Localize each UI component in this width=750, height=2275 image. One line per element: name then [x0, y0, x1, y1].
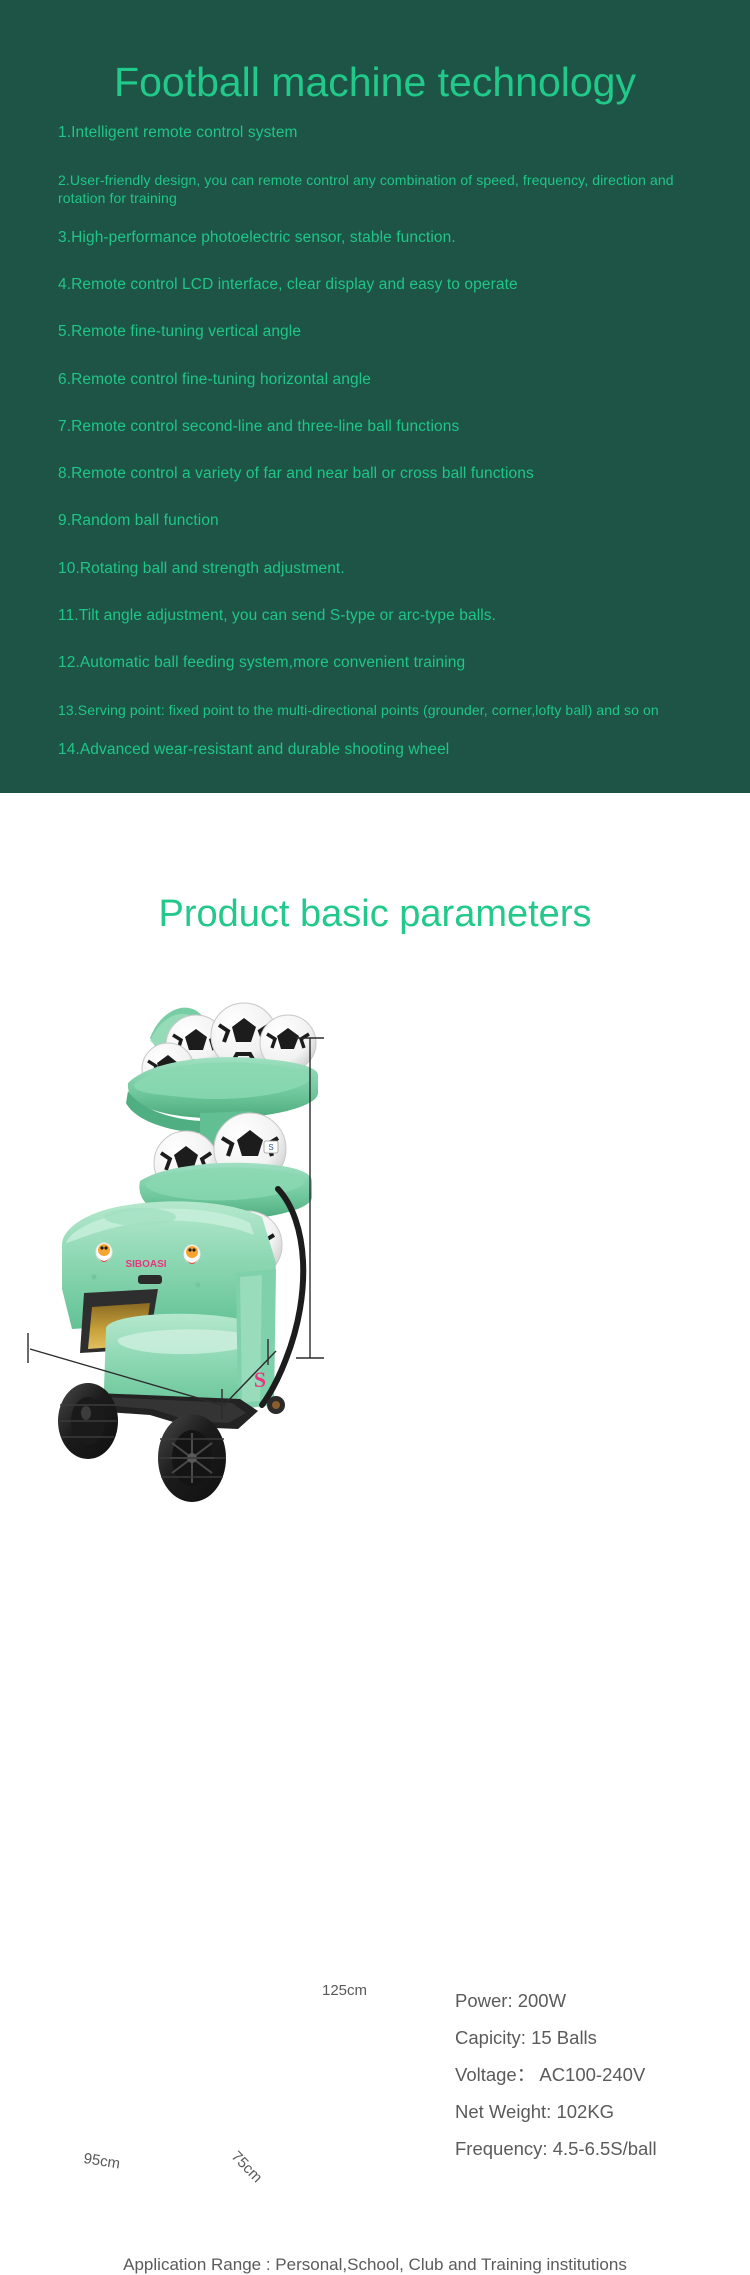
- feature-item-text: Remote control second-line and three-lin…: [71, 418, 459, 435]
- feature-item: 5.Remote fine-tuning vertical angle: [58, 323, 708, 341]
- spec-key: Power:: [455, 1990, 513, 2011]
- technology-section: Football machine technology 1.Intelligen…: [0, 0, 750, 793]
- feature-item-text: Remote control LCD interface, clear disp…: [71, 276, 518, 293]
- svg-text:S: S: [268, 1143, 273, 1152]
- feature-item-number: 7.: [58, 418, 71, 435]
- spec-key: Frequency:: [455, 2138, 548, 2159]
- feature-item-number: 11.: [58, 607, 79, 624]
- page-title: Football machine technology: [0, 59, 750, 106]
- dimension-depth-label: 75cm: [228, 2148, 266, 2186]
- flame-sticker-right: [184, 1245, 200, 1264]
- feature-item-number: 14.: [58, 741, 80, 758]
- feature-item-text: Remote control fine-tuning horizontal an…: [71, 371, 371, 388]
- feature-item-number: 1.: [58, 124, 71, 141]
- feature-item: 13.Serving point: fixed point to the mul…: [58, 701, 708, 719]
- feature-item: 3.High-performance photoelectric sensor,…: [58, 229, 708, 247]
- spec-key: Net Weight:: [455, 2101, 551, 2122]
- feature-item: 4.Remote control LCD interface, clear di…: [58, 276, 708, 294]
- spec-row: Power: 200W: [455, 1992, 725, 2011]
- spec-row: Net Weight: 102KG: [455, 2103, 725, 2122]
- feature-item: 2.User-friendly design, you can remote c…: [58, 171, 708, 207]
- dimension-height-label: 125cm: [322, 1982, 367, 1999]
- wheel-front: [158, 1414, 226, 1502]
- feature-item-text: High-performance photoelectric sensor, s…: [71, 229, 456, 246]
- product-illustration: S: [0, 793, 750, 1549]
- feature-item-text: Advanced wear-resistant and durable shoo…: [80, 741, 449, 758]
- feature-item-number: 8.: [58, 465, 71, 482]
- feature-item: 14.Advanced wear-resistant and durable s…: [58, 741, 708, 759]
- feature-item: 11.Tilt angle adjustment, you can send S…: [58, 607, 708, 625]
- spec-value: 4.5-6.5S/ball: [553, 2138, 657, 2159]
- brand-logo-text: SIBOASI: [125, 1259, 166, 1270]
- feature-item-text: Remote fine-tuning vertical angle: [71, 323, 301, 340]
- feature-item-text: Rotating ball and strength adjustment.: [80, 560, 345, 577]
- application-range-text: Application Range : Personal,School, Clu…: [0, 2255, 750, 2275]
- spec-row: Voltage： AC100-240V: [455, 2066, 725, 2085]
- feature-item-text: Random ball function: [71, 512, 219, 529]
- feature-item: 8.Remote control a variety of far and ne…: [58, 465, 708, 483]
- spec-key: Capicity:: [455, 2027, 526, 2048]
- flame-sticker-left: [96, 1243, 112, 1262]
- feature-item-text: Tilt angle adjustment, you can send S-ty…: [79, 607, 496, 624]
- spec-value: 102KG: [556, 2101, 614, 2122]
- spec-value: 15 Balls: [531, 2027, 597, 2048]
- feature-item-number: 4.: [58, 276, 71, 293]
- feature-item-text: Remote control a variety of far and near…: [71, 465, 534, 482]
- parameters-section: Product basic parameters: [0, 793, 750, 1549]
- spec-row: Capicity: 15 Balls: [455, 2029, 725, 2048]
- feature-item-number: 5.: [58, 323, 71, 340]
- ball-machine-image: S: [0, 793, 750, 1549]
- feature-item: 6.Remote control fine-tuning horizontal …: [58, 371, 708, 389]
- feature-item: 12.Automatic ball feeding system,more co…: [58, 654, 708, 672]
- feature-item-number: 2.: [58, 172, 70, 188]
- feature-item-number: 6.: [58, 371, 71, 388]
- spec-key: Voltage：: [455, 2064, 535, 2085]
- specification-list: Power: 200WCapicity: 15 BallsVoltage： AC…: [455, 1992, 725, 2177]
- feature-item: 1.Intelligent remote control system: [58, 124, 708, 142]
- feature-item-number: 13.: [58, 702, 78, 718]
- wheel-rear: [58, 1383, 118, 1459]
- feature-item: 9.Random ball function: [58, 512, 708, 530]
- feature-item: 7.Remote control second-line and three-l…: [58, 418, 708, 436]
- feature-item-text: Automatic ball feeding system,more conve…: [80, 654, 465, 671]
- feature-item-text: Serving point: fixed point to the multi-…: [78, 702, 659, 718]
- spec-row: Frequency: 4.5-6.5S/ball: [455, 2140, 725, 2159]
- spec-value: AC100-240V: [539, 2064, 645, 2085]
- technology-feature-list: 1.Intelligent remote control system2.Use…: [58, 124, 708, 788]
- feature-item-number: 3.: [58, 229, 71, 246]
- dimension-width-label: 95cm: [82, 2150, 121, 2173]
- feature-item-number: 9.: [58, 512, 71, 529]
- feature-item-text: User-friendly design, you can remote con…: [58, 172, 674, 206]
- feature-item-number: 10.: [58, 560, 80, 577]
- feature-item: 10.Rotating ball and strength adjustment…: [58, 560, 708, 578]
- feature-item-text: Intelligent remote control system: [71, 124, 297, 141]
- spec-value: 200W: [518, 1990, 566, 2011]
- brand-mark-s: S: [254, 1367, 266, 1392]
- feature-item-number: 12.: [58, 654, 80, 671]
